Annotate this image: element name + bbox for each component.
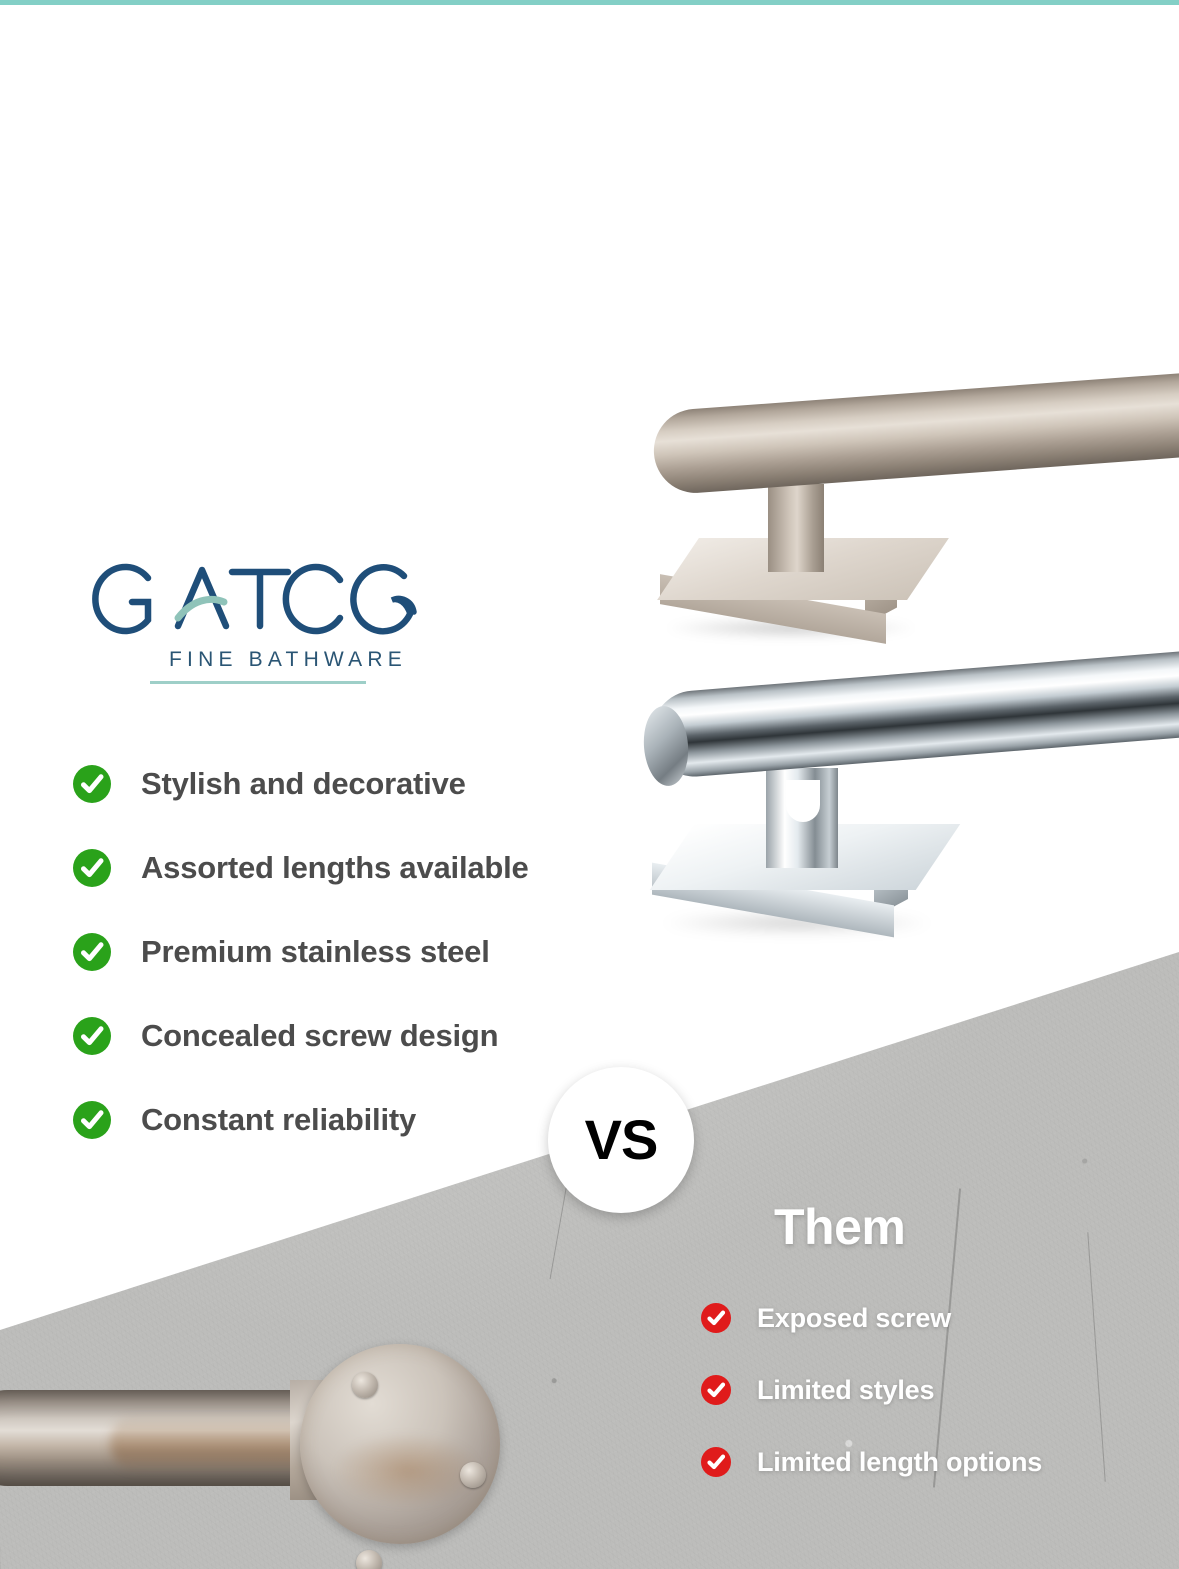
mounting-post-highlight [786,780,820,822]
benefit-label: Stylish and decorative [141,766,466,802]
benefit-label: Premium stainless steel [141,934,490,970]
drawback-item: Limited styles [700,1354,1130,1426]
vs-label: VS [585,1112,658,1168]
check-circle-green-icon [72,848,112,888]
exposed-screw-icon [460,1462,486,1488]
comparison-infographic: Them Exposed screw Limited styles [0,0,1179,1569]
brushed-nickel-towel-bar-image [636,398,1179,668]
drawback-label: Limited length options [757,1447,1042,1478]
logo-underline [150,681,366,684]
benefit-label: Assorted lengths available [141,850,529,886]
gatco-logo: FINE BATHWARE [92,556,432,684]
check-circle-green-icon [72,1100,112,1140]
benefit-item: Assorted lengths available [72,826,672,910]
check-circle-red-icon [700,1302,732,1334]
gatco-wordmark-icon [92,556,432,642]
worn-grab-bar-image [0,1336,580,1569]
drawback-item: Exposed screw [700,1282,1130,1354]
benefit-label: Concealed screw design [141,1018,498,1054]
grab-bar-flange-rust [332,1432,482,1508]
check-circle-green-icon [72,1016,112,1056]
logo-tagline: FINE BATHWARE [92,648,432,672]
benefit-item: Stylish and decorative [72,742,672,826]
top-accent-rule [0,0,1179,5]
benefit-label: Constant reliability [141,1102,416,1138]
benefit-item: Concealed screw design [72,994,672,1078]
them-column: Them Exposed screw Limited styles [700,1198,1130,1498]
drawback-label: Exposed screw [757,1303,951,1334]
exposed-screw-icon [356,1550,382,1569]
check-circle-red-icon [700,1446,732,1478]
exposed-screw-icon [352,1372,378,1398]
drawback-item: Limited length options [700,1426,1130,1498]
check-circle-green-icon [72,764,112,804]
benefit-item: Premium stainless steel [72,910,672,994]
them-title: Them [774,1198,1130,1256]
vs-badge: VS [548,1067,694,1213]
polished-chrome-towel-bar-image [636,676,1179,986]
mounting-post [768,484,824,572]
check-circle-green-icon [72,932,112,972]
check-circle-red-icon [700,1374,732,1406]
drawback-label: Limited styles [757,1375,934,1406]
